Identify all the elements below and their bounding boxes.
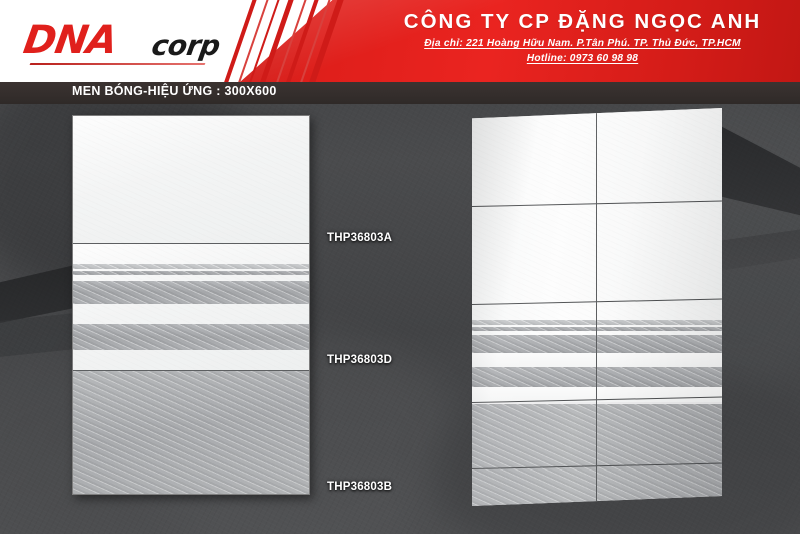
page-header: DNA corp CÔNG TY CP ĐẶNG NGỌC ANH Địa ch… xyxy=(0,0,800,82)
tile-code-label-b: THP36803B xyxy=(327,481,392,493)
decor-stripe xyxy=(73,281,309,304)
tile-sample-stack xyxy=(72,115,310,495)
logo-text-corp: corp xyxy=(149,29,222,62)
logo-text-dna: DNA xyxy=(20,18,119,63)
tile-gray-bottom xyxy=(73,371,309,495)
mockup-tile-row-white xyxy=(472,208,722,306)
company-address: Địa chỉ: 221 Hoàng Hữu Nam. P.Tân Phú. T… xyxy=(370,37,795,52)
poster-canvas: THP36803A THP36803D THP36803B MEN BÓNG-H… xyxy=(0,0,800,534)
tile-code-label-d: THP36803D xyxy=(327,354,392,366)
mockup-tile-row-gray xyxy=(472,404,722,470)
mockup-vertical-grout xyxy=(596,108,597,506)
mockup-decor-stripe xyxy=(472,327,722,331)
tile-decor-middle xyxy=(73,244,309,370)
mockup-decor-stripe xyxy=(472,353,722,367)
mockup-tile-row-decor xyxy=(472,306,722,402)
mockup-tile-row-white xyxy=(472,108,722,208)
mockup-decor-stripe xyxy=(472,320,722,325)
decor-stripe xyxy=(73,264,309,269)
mockup-decor-stripe xyxy=(472,335,722,353)
wall-installation-mockup xyxy=(472,108,722,506)
mockup-decor-stripe xyxy=(472,367,722,387)
company-info-block: CÔNG TY CP ĐẶNG NGỌC ANH Địa chỉ: 221 Ho… xyxy=(370,11,795,67)
decor-stripe xyxy=(73,324,309,350)
decor-stripe xyxy=(73,271,309,275)
logo-underline xyxy=(30,63,206,65)
company-name: CÔNG TY CP ĐẶNG NGỌC ANH xyxy=(370,11,795,34)
tile-white-top xyxy=(73,116,309,243)
tile-code-label-a: THP36803A xyxy=(327,232,392,244)
company-hotline: Hotline: 0973 60 98 98 xyxy=(370,52,795,67)
company-logo[interactable]: DNA corp xyxy=(24,18,264,70)
product-title: MEN BÓNG-HIỆU ỨNG : 300X600 xyxy=(72,84,277,98)
